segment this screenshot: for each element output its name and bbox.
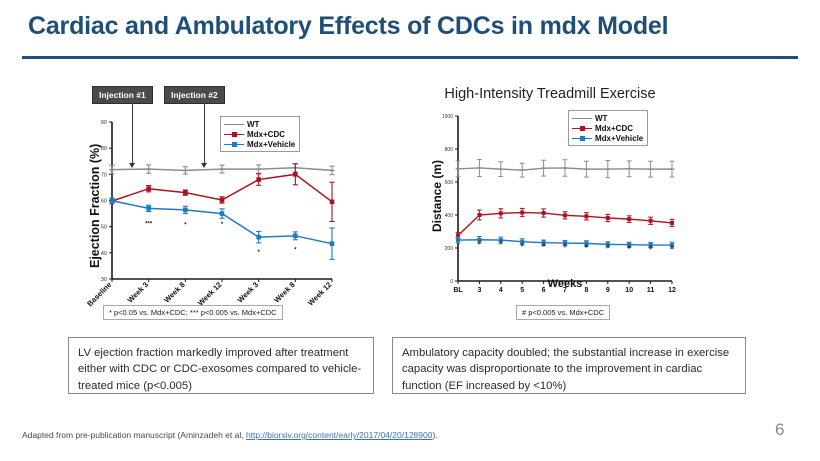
svg-text:*: * (221, 222, 224, 228)
ejection-fraction-chart: Injection #1 Injection #2 Ejection Fract… (78, 78, 338, 333)
page-number: 6 (775, 420, 784, 440)
svg-text:Week 3: Week 3 (126, 280, 151, 305)
svg-text:*: * (294, 248, 297, 254)
legend-item: WT (572, 113, 643, 123)
conclusion-box-right: Ambulatory capacity doubled; the substan… (392, 337, 746, 394)
svg-text:#: # (521, 242, 524, 248)
conclusion-box-left: LV ejection fraction markedly improved a… (68, 337, 374, 394)
svg-text:Week 8: Week 8 (162, 280, 187, 305)
svg-text:Week 12: Week 12 (196, 280, 223, 307)
svg-text:Week 12: Week 12 (306, 280, 333, 307)
x-axis-label-right: Weeks (460, 278, 670, 290)
svg-text:600: 600 (445, 180, 454, 186)
attribution-suffix: ). (432, 430, 437, 440)
svg-text:200: 200 (445, 246, 454, 252)
svg-text:***: *** (145, 221, 153, 227)
svg-text:60: 60 (101, 199, 107, 205)
page-title: Cardiac and Ambulatory Effects of CDCs i… (28, 12, 788, 41)
legend-swatch-icon (572, 114, 592, 123)
attribution-prefix: Adapted from pre-publication manuscript … (22, 430, 246, 440)
title-divider (22, 56, 798, 59)
legend-label: WT (247, 120, 259, 129)
legend-swatch-icon (224, 120, 244, 129)
svg-text:#: # (606, 245, 609, 251)
svg-text:#: # (499, 241, 502, 247)
source-link[interactable]: http://biorxiv.org/content/early/2017/04… (246, 430, 433, 440)
legend-swatch-icon (572, 134, 592, 143)
legend-label: Mdx+Vehicle (247, 140, 295, 149)
legend-label: Mdx+Vehicle (595, 134, 643, 143)
svg-text:#: # (649, 245, 652, 251)
svg-text:Baseline: Baseline (85, 280, 113, 308)
svg-text:#: # (542, 243, 545, 249)
legend-item: Mdx+CDC (224, 129, 295, 139)
svg-text:50: 50 (101, 225, 107, 231)
legend-label: WT (595, 114, 607, 123)
svg-text:*: * (257, 250, 260, 256)
svg-text:#: # (670, 245, 673, 251)
svg-text:800: 800 (445, 147, 454, 153)
legend-swatch-icon (224, 140, 244, 149)
svg-text:#: # (585, 244, 588, 250)
svg-text:40: 40 (101, 251, 107, 257)
svg-text:*: * (184, 223, 187, 229)
svg-text:90: 90 (101, 120, 107, 126)
svg-text:#: # (628, 245, 631, 251)
svg-text:Week 3: Week 3 (236, 280, 261, 305)
legend-item: Mdx+Vehicle (572, 133, 643, 143)
svg-text:80: 80 (101, 146, 107, 152)
slide-canvas: Cardiac and Ambulatory Effects of CDCs i… (0, 0, 820, 461)
svg-text:#: # (478, 240, 481, 246)
legend-item: WT (224, 119, 295, 129)
right-chart-footnote: # p<0.005 vs. Mdx+CDC (516, 305, 610, 320)
svg-text:Week 8: Week 8 (272, 280, 297, 305)
left-chart-footnote: * p<0.05 vs. Mdx+CDC; *** p<0.005 vs. Md… (103, 305, 283, 320)
legend-label: Mdx+CDC (247, 130, 285, 139)
legend-item: Mdx+Vehicle (224, 139, 295, 149)
svg-text:#: # (563, 244, 566, 250)
svg-text:1000: 1000 (442, 114, 453, 120)
legend-swatch-icon (224, 130, 244, 139)
legend-swatch-icon (572, 124, 592, 133)
chart-legend: WTMdx+CDCMdx+Vehicle (220, 116, 300, 152)
chart-legend: WTMdx+CDCMdx+Vehicle (568, 110, 648, 146)
source-attribution: Adapted from pre-publication manuscript … (22, 430, 438, 440)
treadmill-chart-title: High-Intensity Treadmill Exercise (420, 86, 680, 102)
svg-text:0: 0 (450, 279, 453, 285)
legend-label: Mdx+CDC (595, 124, 633, 133)
svg-text:70: 70 (101, 172, 107, 178)
treadmill-chart: High-Intensity Treadmill Exercise Distan… (420, 82, 680, 297)
legend-item: Mdx+CDC (572, 123, 643, 133)
svg-text:400: 400 (445, 213, 454, 219)
